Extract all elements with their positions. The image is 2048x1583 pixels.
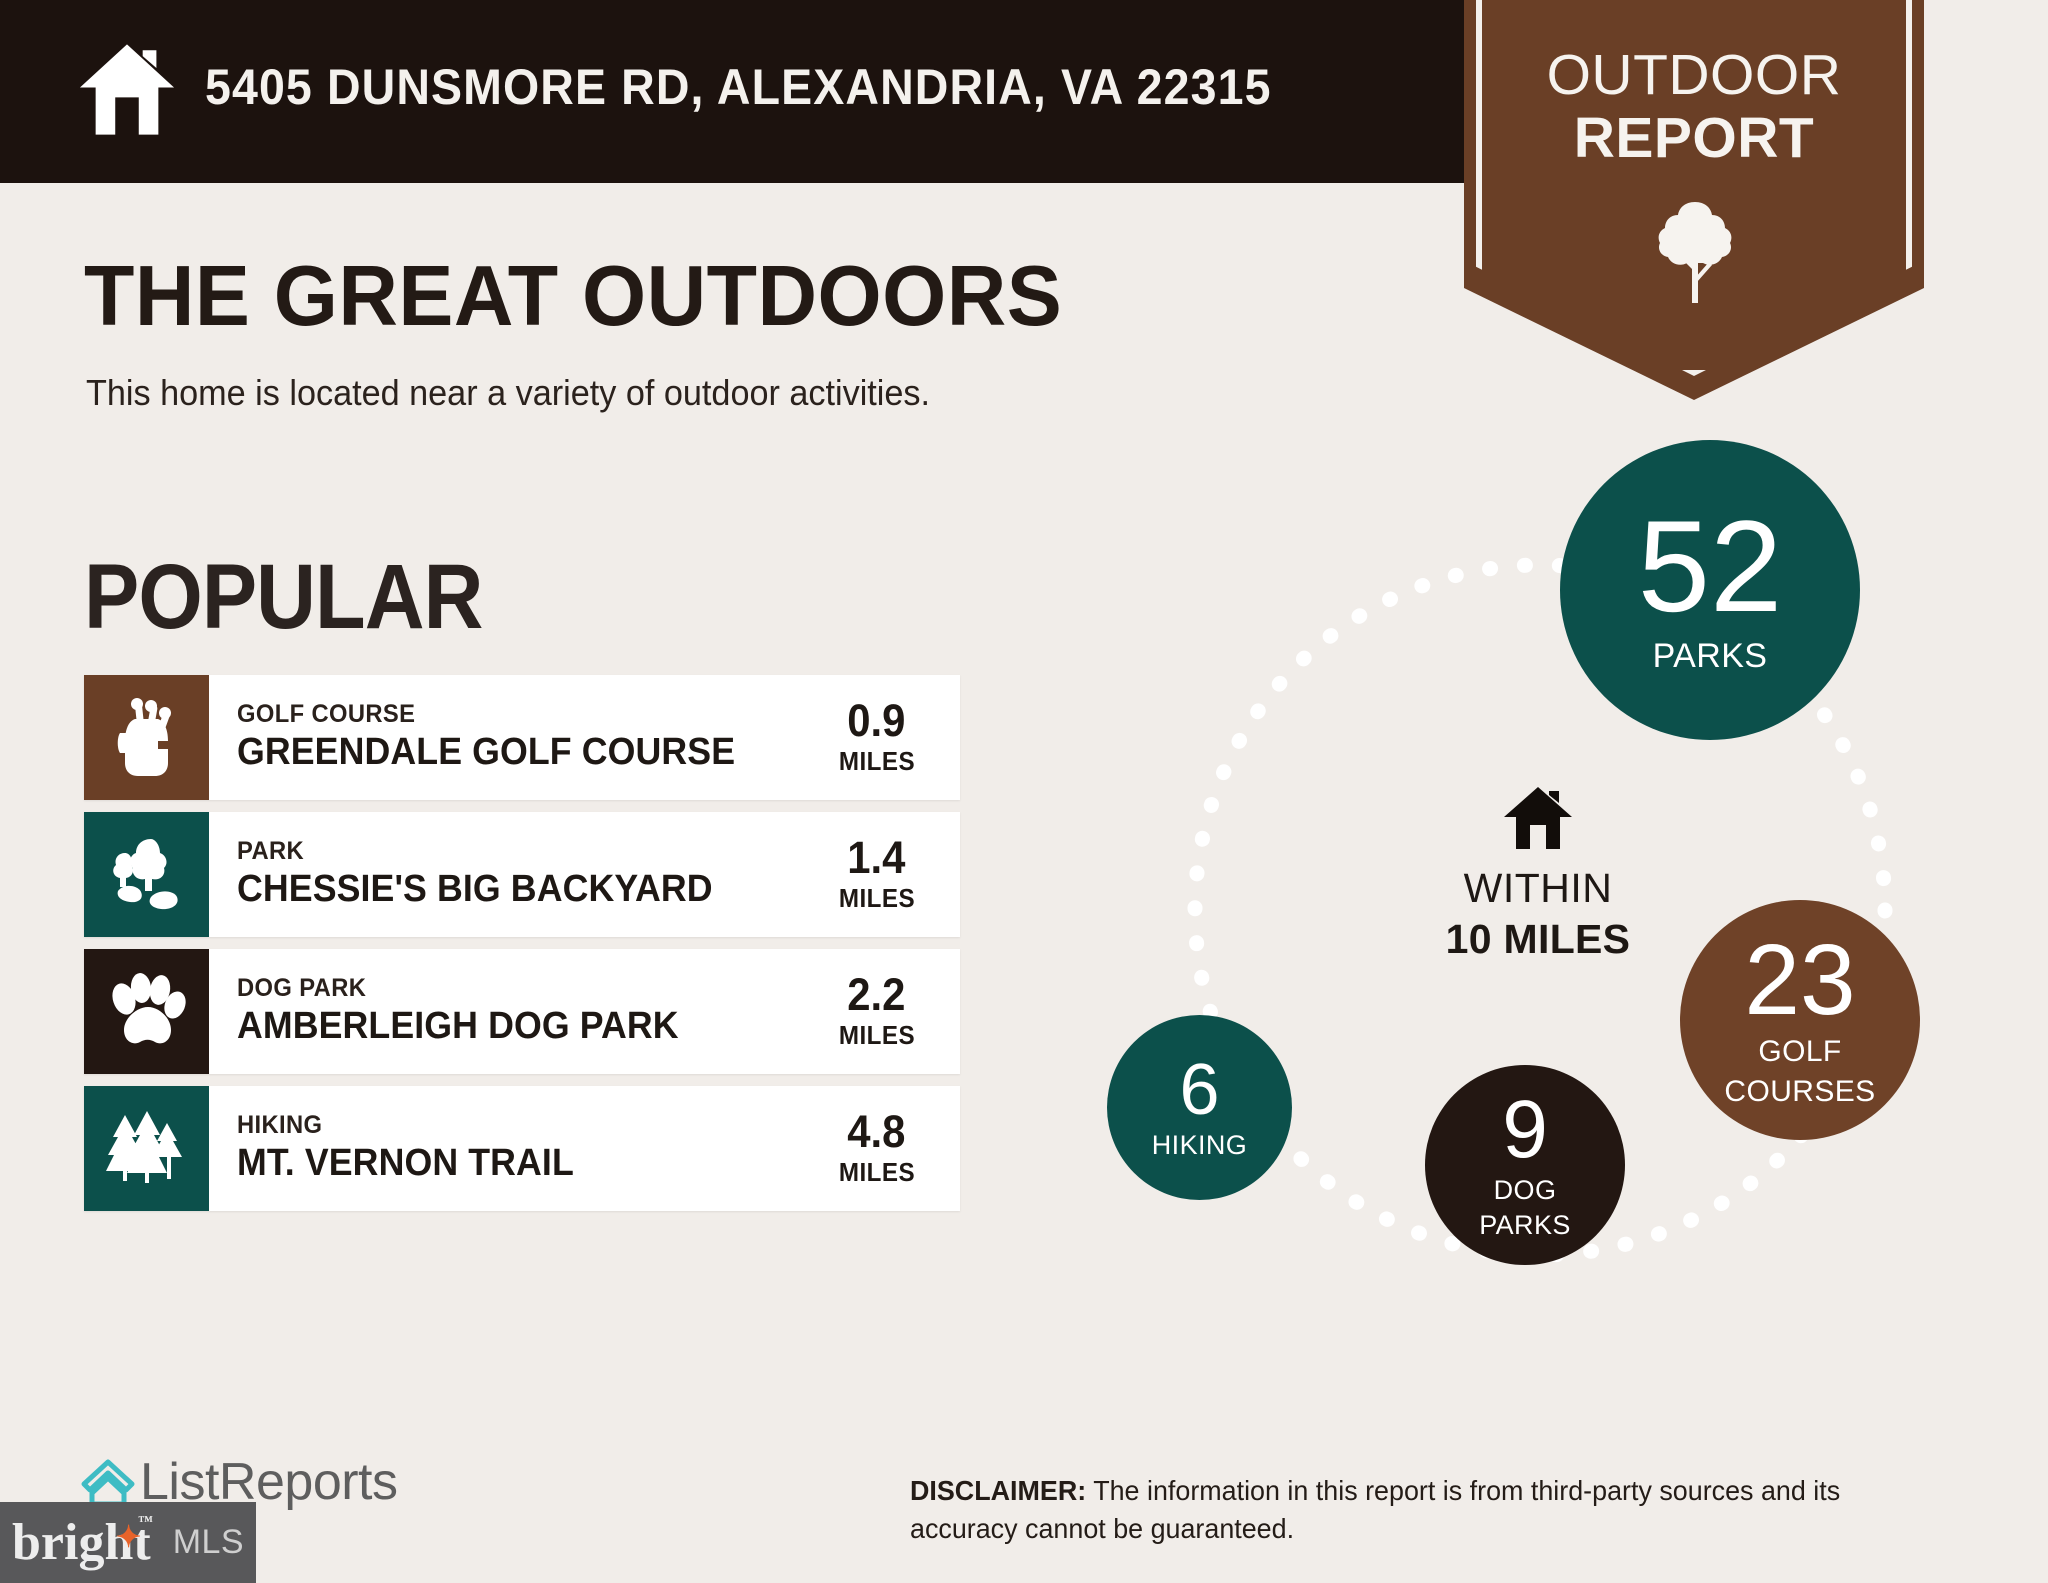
poi-text: GOLF COURSE GREENDALE GOLF COURSE: [209, 675, 809, 800]
poi-text: HIKING MT. VERNON TRAIL: [209, 1086, 809, 1211]
poi-distance: 0.9 MILES: [809, 675, 960, 800]
stat-label: PARKS: [1653, 639, 1768, 675]
diagram-center: WITHIN 10 MILES: [1368, 785, 1708, 963]
poi-icon-tile: [84, 1086, 209, 1211]
home-icon: [1502, 785, 1574, 851]
poi-category: DOG PARK: [237, 975, 780, 1001]
poi-icon-tile: [84, 812, 209, 937]
stat-label: HIKING: [1152, 1131, 1247, 1159]
stat-label-line2: PARKS: [1479, 1211, 1571, 1239]
list-item[interactable]: HIKING MT. VERNON TRAIL 4.8 MILES: [84, 1086, 960, 1211]
stat-value: 9: [1502, 1091, 1548, 1169]
poi-category: GOLF COURSE: [237, 701, 780, 727]
stat-label-line1: GOLF: [1758, 1036, 1841, 1068]
stat-value: 6: [1179, 1056, 1219, 1124]
stat-bubble-dog-parks[interactable]: 9 DOG PARKS: [1425, 1065, 1625, 1265]
poi-distance-value: 1.4: [847, 835, 905, 880]
watermark-suffix: MLS: [173, 1523, 244, 1562]
header-bar: 5405 DUNSMORE RD, ALEXANDRIA, VA 22315: [0, 0, 1467, 183]
stat-bubble-hiking[interactable]: 6 HIKING: [1107, 1015, 1292, 1200]
poi-icon-tile: [84, 949, 209, 1074]
list-item[interactable]: PARK CHESSIE'S BIG BACKYARD 1.4 MILES: [84, 812, 960, 937]
poi-name: AMBERLEIGH DOG PARK: [237, 1005, 775, 1048]
poi-distance-unit: MILES: [838, 1157, 914, 1188]
stat-label-line2: COURSES: [1724, 1076, 1875, 1108]
badge-title-line2: REPORT: [1464, 105, 1924, 171]
pine-trees-icon: [105, 1109, 189, 1189]
list-item[interactable]: GOLF COURSE GREENDALE GOLF COURSE 0.9 MI…: [84, 675, 960, 800]
poi-distance: 2.2 MILES: [809, 949, 960, 1074]
poi-distance-value: 2.2: [847, 972, 905, 1017]
poi-distance: 4.8 MILES: [809, 1086, 960, 1211]
poi-distance-unit: MILES: [838, 1020, 914, 1051]
golf-bag-icon: [111, 697, 183, 779]
poi-name: MT. VERNON TRAIL: [237, 1142, 775, 1185]
disclaimer-label: DISCLAIMER:: [910, 1475, 1086, 1506]
house-outline-icon: [80, 1456, 136, 1508]
stat-bubble-parks[interactable]: 52 PARKS: [1560, 440, 1860, 740]
paw-print-icon: [107, 973, 187, 1051]
center-label-line1: WITHIN: [1368, 865, 1708, 912]
stat-label-line1: DOG: [1494, 1176, 1557, 1204]
poi-distance: 1.4 MILES: [809, 812, 960, 937]
poi-category: HIKING: [237, 1112, 780, 1138]
center-label-line2: 10 MILES: [1368, 916, 1708, 963]
trademark-symbol: ™: [138, 1515, 153, 1530]
disclaimer: DISCLAIMER: The information in this repo…: [910, 1472, 1918, 1548]
poi-icon-tile: [84, 675, 209, 800]
poi-distance-unit: MILES: [838, 883, 914, 914]
stat-bubble-golf-courses[interactable]: 23 GOLF COURSES: [1680, 900, 1920, 1140]
outdoor-report-infographic: 5405 DUNSMORE RD, ALEXANDRIA, VA 22315 O…: [0, 0, 2048, 1583]
within-10-miles-diagram: 52 PARKS 23 GOLF COURSES 9 DOG PARKS 6 H…: [1090, 460, 1990, 1360]
poi-category: PARK: [237, 838, 780, 864]
bright-mls-watermark: bright✦™ MLS: [0, 1502, 256, 1583]
poi-distance-value: 4.8: [847, 1109, 905, 1154]
popular-heading: POPULAR: [84, 545, 483, 650]
park-trees-icon: [108, 835, 186, 915]
page-title: THE GREAT OUTDOORS: [84, 248, 1062, 346]
property-address: 5405 DUNSMORE RD, ALEXANDRIA, VA 22315: [205, 58, 1272, 116]
poi-distance-value: 0.9: [847, 698, 905, 743]
poi-text: PARK CHESSIE'S BIG BACKYARD: [209, 812, 809, 937]
poi-distance-unit: MILES: [838, 746, 914, 777]
poi-text: DOG PARK AMBERLEIGH DOG PARK: [209, 949, 809, 1074]
badge-title-line1: OUTDOOR: [1464, 42, 1924, 108]
poi-name: CHESSIE'S BIG BACKYARD: [237, 868, 775, 911]
watermark-brand: bright✦™: [12, 1517, 151, 1569]
home-icon: [78, 42, 176, 137]
tree-icon: [1655, 200, 1735, 305]
list-item[interactable]: DOG PARK AMBERLEIGH DOG PARK 2.2 MILES: [84, 949, 960, 1074]
page-subtitle: This home is located near a variety of o…: [86, 372, 930, 414]
poi-name: GREENDALE GOLF COURSE: [237, 731, 775, 774]
stat-value: 23: [1744, 933, 1855, 1028]
stat-value: 52: [1638, 505, 1783, 629]
popular-places-list: GOLF COURSE GREENDALE GOLF COURSE 0.9 MI…: [84, 675, 960, 1223]
